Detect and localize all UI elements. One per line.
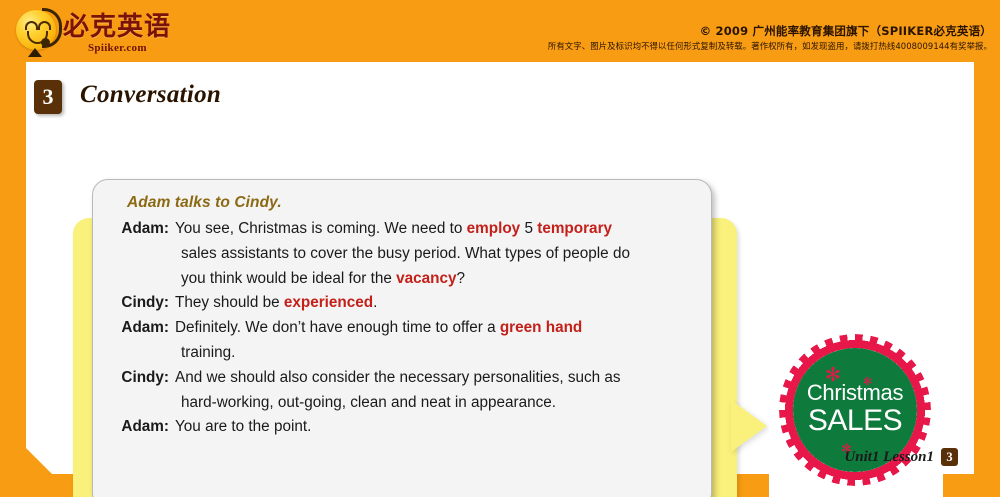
brand-name-cn: 必克英语: [63, 12, 171, 42]
smiley-eye-left-icon: [25, 21, 38, 30]
dialogue-line: Adam:You see, Christmas is coming. We ne…: [115, 217, 701, 242]
dialogue-text: you think would be ideal for the: [181, 270, 396, 287]
keyword-term: experienced: [284, 294, 373, 311]
utterance-continuation: you think would be ideal for the vacancy…: [115, 267, 701, 292]
dialogue-text: training.: [181, 344, 235, 361]
utterance-continuation: hard-working, out-going, clean and neat …: [115, 391, 701, 416]
keyword-term: vacancy: [396, 270, 456, 287]
utterance-continuation: sales assistants to cover the busy perio…: [115, 242, 701, 267]
utterance: You are to the point.: [175, 415, 701, 440]
lesson-page: 必克英语 Spiiker.com © 2009 广州能率教育集团旗下（SPIIK…: [0, 0, 1000, 497]
page-header: 必克英语 Spiiker.com © 2009 广州能率教育集团旗下（SPIIK…: [0, 0, 1000, 62]
badge-line-2: SALES: [793, 406, 917, 436]
page-title: Conversation: [80, 81, 221, 109]
conversation-body: Adam talks to Cindy. Adam:You see, Chris…: [115, 194, 701, 440]
dialogue-text: And we should also consider the necessar…: [175, 369, 621, 386]
footer-page-number: 3: [941, 448, 958, 466]
headset-earpiece-icon: [41, 38, 50, 47]
keyword-term: temporary: [537, 220, 612, 237]
speaker-label: Cindy:: [115, 291, 175, 316]
dialogue-text: You are to the point.: [175, 418, 311, 435]
dialogue-text: hard-working, out-going, clean and neat …: [181, 394, 556, 411]
badge-line-1: Christmas: [793, 382, 917, 404]
dialogue-line: Cindy:They should be experienced.: [115, 291, 701, 316]
brand-name-en: Spiiker.com: [88, 42, 147, 54]
dialogue-line: Cindy:And we should also consider the ne…: [115, 366, 701, 391]
christmas-sales-badge: ✻ ✻ ✻ Christmas SALES: [769, 328, 943, 497]
section-number-badge: 3: [34, 80, 62, 114]
conversation-intro: Adam talks to Cindy.: [127, 194, 701, 212]
content-sheet: 3 Conversation Adam talks to Cindy. Adam…: [26, 62, 974, 474]
callout-arrow-icon: [731, 400, 767, 452]
conversation-card: Adam talks to Cindy. Adam:You see, Chris…: [92, 179, 712, 497]
utterance-continuation: training.: [115, 341, 701, 366]
utterance: They should be experienced.: [175, 291, 701, 316]
dialogue-text: ?: [457, 270, 466, 287]
dialogue-line: Adam:You are to the point.: [115, 415, 701, 440]
dialogue-text: 5: [520, 220, 537, 237]
speaker-label: Adam:: [115, 316, 175, 341]
logo-stand-icon: [28, 48, 42, 57]
copyright-block: © 2009 广州能率教育集团旗下（SPIIKER必克英语） 所有文字、图片及标…: [548, 24, 992, 53]
utterance: Definitely. We don’t have enough time to…: [175, 316, 701, 341]
copyright-line-1: © 2009 广州能率教育集团旗下（SPIIKER必克英语）: [548, 24, 992, 39]
speaker-label: Cindy:: [115, 366, 175, 391]
sheet-corner-notch: [26, 448, 52, 474]
dialogue-text: They should be: [175, 294, 284, 311]
utterance: You see, Christmas is coming. We need to…: [175, 217, 701, 242]
dialogue-text: You see, Christmas is coming. We need to: [175, 220, 467, 237]
keyword-term: green hand: [500, 319, 582, 336]
speaker-label: Adam:: [115, 415, 175, 440]
dialogue-text: Definitely. We don’t have enough time to…: [175, 319, 500, 336]
dialogue-line: Adam:Definitely. We don’t have enough ti…: [115, 316, 701, 341]
dialogue-list: Adam:You see, Christmas is coming. We ne…: [115, 217, 701, 440]
copyright-line-2: 所有文字、图片及标识均不得以任何形式复制及转载。著作权所有，如发现盗用，请拨打热…: [548, 40, 992, 53]
dialogue-text: .: [373, 294, 377, 311]
dialogue-text: sales assistants to cover the busy perio…: [181, 245, 630, 262]
badge-label: Christmas SALES: [793, 382, 917, 436]
utterance: And we should also consider the necessar…: [175, 366, 701, 391]
keyword-term: employ: [467, 220, 521, 237]
brand-logo[interactable]: 必克英语 Spiiker.com: [14, 6, 164, 56]
speaker-label: Adam:: [115, 217, 175, 242]
footer-unit-lesson: Unit1 Lesson1: [844, 449, 934, 466]
page-footer: Unit1 Lesson1 3: [844, 448, 958, 466]
